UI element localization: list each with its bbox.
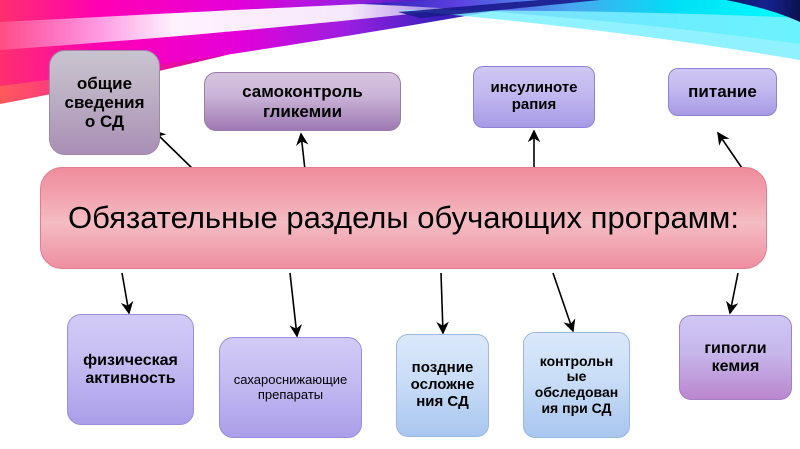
node-insulinoterapiya[interactable]: инсулиноте рапия xyxy=(473,66,595,128)
node-samokontrol[interactable]: самоконтроль гликемии xyxy=(204,72,401,131)
arrow-to-fizicheskaya-aktivnost xyxy=(122,273,129,313)
node-pozdnie-oslozhneniya-label: поздние осложне ния СД xyxy=(397,360,488,410)
center-banner-box[interactable]: Обязательные разделы обучающих программ: xyxy=(40,167,767,269)
node-fizicheskaya-aktivnost-label: физическая активность xyxy=(68,352,193,388)
arrow-to-pozdnie-oslozhneniya xyxy=(441,273,443,333)
node-fizicheskaya-aktivnost[interactable]: физическая активность xyxy=(67,314,194,425)
node-saharosnizhayushchie-label: сахароснижающие препараты xyxy=(220,373,361,402)
node-gipoglikemiya-label: гипогли кемия xyxy=(680,340,791,376)
arrow-to-pitanie xyxy=(718,133,744,171)
node-pitanie-label: питание xyxy=(669,82,776,101)
node-gipoglikemiya[interactable]: гипогли кемия xyxy=(679,315,792,400)
node-obshchie-svedeniya[interactable]: общие сведения о СД xyxy=(49,50,160,155)
node-saharosnizhayushchie[interactable]: сахароснижающие препараты xyxy=(219,337,362,438)
slide-canvas: общие сведения о СД самоконтроль гликеми… xyxy=(0,0,800,449)
arrow-to-obshchie-svedeniya xyxy=(154,131,196,172)
node-pitanie[interactable]: питание xyxy=(668,68,777,116)
arrow-to-kontrolnye-obsledovaniya xyxy=(553,273,573,331)
arrow-to-samokontrol xyxy=(301,134,305,170)
arrow-to-gipoglikemiya xyxy=(730,273,738,313)
node-samokontrol-label: самоконтроль гликемии xyxy=(205,82,400,120)
node-insulinoterapiya-label: инсулиноте рапия xyxy=(474,80,594,114)
arrow-to-saharosnizhayushchie xyxy=(290,273,297,336)
center-banner-title: Обязательные разделы обучающих программ: xyxy=(41,201,766,236)
node-pozdnie-oslozhneniya[interactable]: поздние осложне ния СД xyxy=(396,334,489,437)
node-obshchie-svedeniya-label: общие сведения о СД xyxy=(50,74,159,131)
node-kontrolnye-obsledovaniya[interactable]: контрольн ые обследован ия при СД xyxy=(523,332,630,438)
node-kontrolnye-obsledovaniya-label: контрольн ые обследован ия при СД xyxy=(524,354,629,417)
